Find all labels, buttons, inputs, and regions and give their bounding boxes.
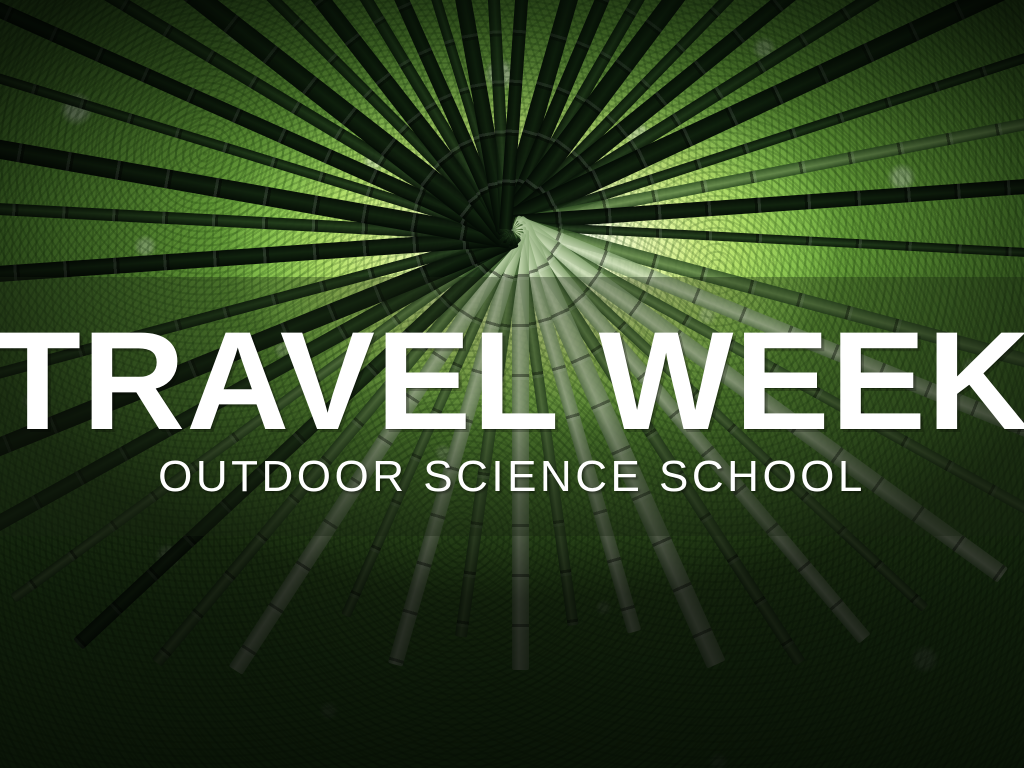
title-slide: TRAVEL WEEK OUTDOOR SCIENCE SCHOOL (0, 0, 1024, 768)
title-overlay-band: TRAVEL WEEK OUTDOOR SCIENCE SCHOOL (0, 277, 1024, 536)
page-subtitle: OUTDOOR SCIENCE SCHOOL (158, 455, 866, 499)
page-title: TRAVEL WEEK (0, 314, 1024, 448)
